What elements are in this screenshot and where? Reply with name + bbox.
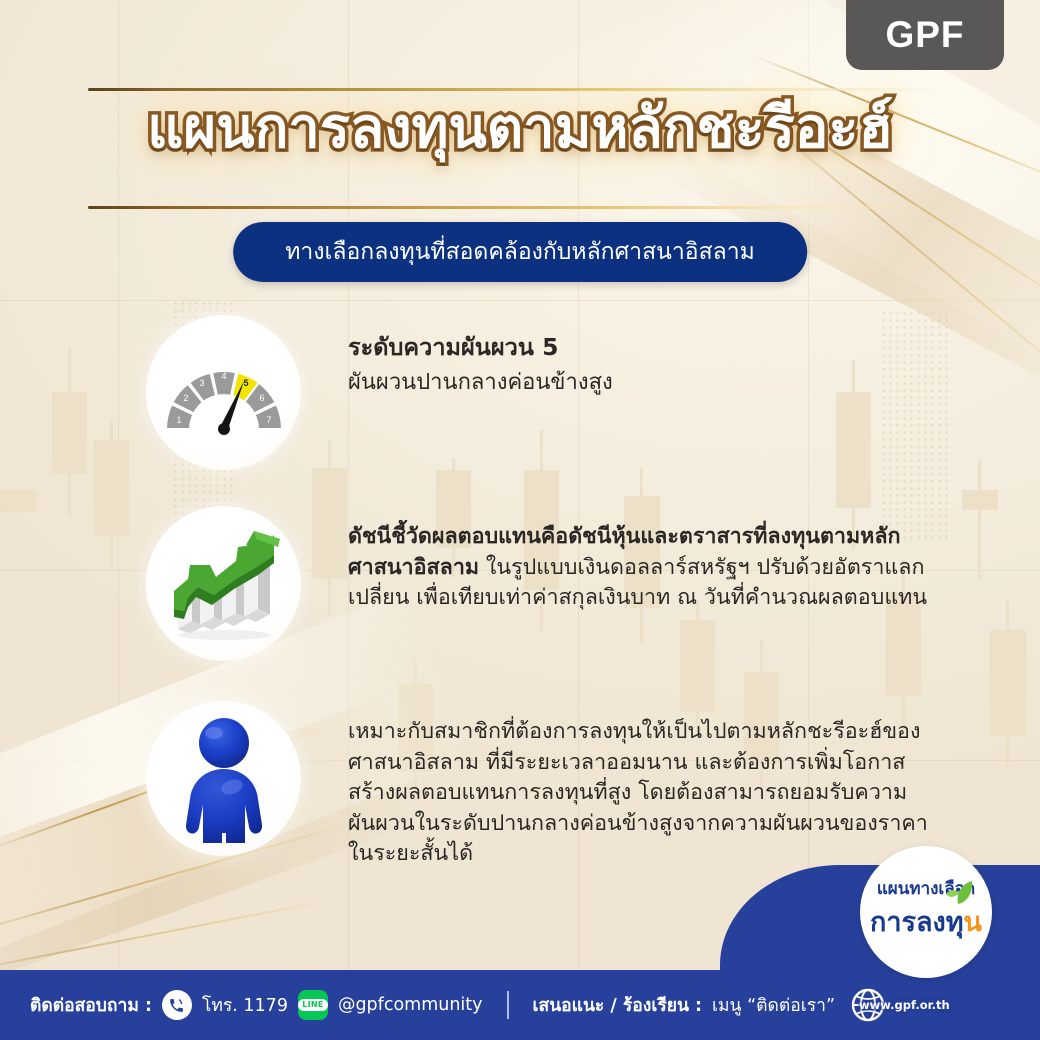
header-rule-bottom <box>88 206 946 209</box>
svg-text:7: 7 <box>266 415 271 425</box>
footer-content: ติดต่อสอบถาม : โทร. 1179 LINE @gpfcommun… <box>0 988 885 1022</box>
subtitle-pill: ทางเลือกลงทุนที่สอดคล้องกับหลักศาสนาอิสล… <box>233 222 807 282</box>
svg-text:1: 1 <box>176 415 181 425</box>
phone-glyph <box>168 997 185 1014</box>
gpf-logo: GPF <box>846 0 1004 70</box>
risk-gauge-icon: 1 2 3 4 5 6 7 <box>146 315 301 470</box>
line-id[interactable]: @gpfcommunity <box>338 995 483 1015</box>
suitability-text-block: เหมาะกับสมาชิกที่ต้องการลงทุนให้เป็นไปตา… <box>348 701 948 870</box>
logo-line2-row: การลงทุ น <box>870 900 982 943</box>
investment-plan-logo: แผนทางเลือก การลงทุ น <box>860 846 992 978</box>
risk-level-heading: ระดับความผันผวน 5 <box>348 331 613 364</box>
header-rule-top <box>88 88 946 91</box>
person-icon <box>146 701 301 856</box>
logo-accent-char: น <box>964 900 982 943</box>
line-badge-text: LINE <box>298 999 327 1011</box>
content-row-risk: 1 2 3 4 5 6 7 ระดับความผันผวน 5 ผันผวนปา… <box>0 315 1040 470</box>
svg-text:6: 6 <box>259 393 264 403</box>
line-icon[interactable]: LINE <box>298 990 328 1020</box>
svg-text:2: 2 <box>183 393 188 403</box>
svg-text:3: 3 <box>199 378 204 388</box>
leaf-icon <box>944 880 974 906</box>
svg-text:4: 4 <box>221 371 226 381</box>
phone-icon[interactable] <box>162 990 192 1020</box>
content-rows: 1 2 3 4 5 6 7 ระดับความผันผวน 5 ผันผวนปา… <box>0 315 1040 894</box>
footer-divider <box>507 991 509 1019</box>
content-row-benchmark: ดัชนีชี้วัดผลตอบแทนคือดัชนีหุ้นและตราสาร… <box>0 506 1040 661</box>
svg-text:5: 5 <box>243 378 248 388</box>
growth-chart-svg <box>162 525 286 643</box>
phone-number[interactable]: โทร. 1179 <box>202 991 288 1019</box>
page-title: แผนการลงทุนตามหลักชะรีอะฮ์ <box>147 100 892 159</box>
content-row-suitability: เหมาะกับสมาชิกที่ต้องการลงทุนให้เป็นไปตา… <box>0 701 1040 870</box>
logo-line2: การลงทุ <box>870 909 964 936</box>
contact-label: ติดต่อสอบถาม : <box>30 991 152 1019</box>
footer-bar: ติดต่อสอบถาม : โทร. 1179 LINE @gpfcommun… <box>0 970 1040 1040</box>
risk-text-block: ระดับความผันผวน 5 ผันผวนปานกลางค่อนข้างส… <box>348 315 613 399</box>
suggest-label: เสนอแนะ / ร้องเรียน : <box>533 991 703 1019</box>
benchmark-text-block: ดัชนีชี้วัดผลตอบแทนคือดัชนีหุ้นและตราสาร… <box>348 506 948 614</box>
suggest-value: เมนู “ติดต่อเรา” <box>712 991 835 1019</box>
suitability-text: เหมาะกับสมาชิกที่ต้องการลงทุนให้เป็นไปตา… <box>348 717 948 870</box>
person-svg <box>166 713 282 845</box>
page-title-wrap: แผนการลงทุนตามหลักชะรีอะฮ์ <box>0 100 1040 159</box>
subtitle-text: ทางเลือกลงทุนที่สอดคล้องกับหลักศาสนาอิสล… <box>285 239 755 265</box>
risk-level-subheading: ผันผวนปานกลางค่อนข้างสูง <box>348 367 613 398</box>
gauge-svg: 1 2 3 4 5 6 7 <box>161 337 287 449</box>
website-link[interactable]: www.gpf.or.th <box>851 988 885 1022</box>
growth-chart-icon <box>146 506 301 661</box>
gpf-logo-text: GPF <box>885 14 964 56</box>
website-url: www.gpf.or.th <box>859 998 950 1012</box>
